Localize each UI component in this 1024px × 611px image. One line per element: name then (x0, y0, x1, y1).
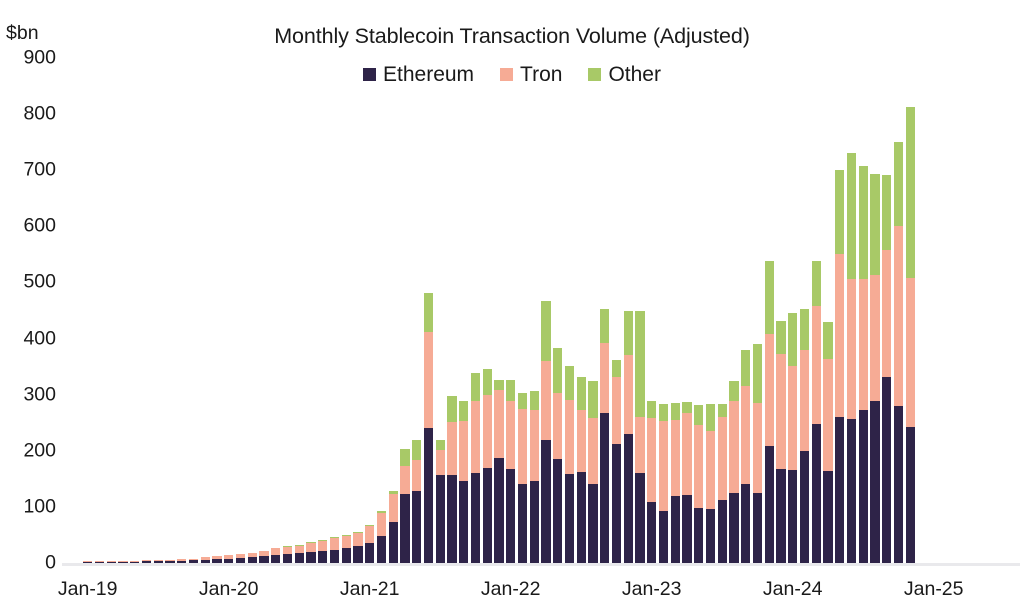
bar-stack[interactable] (870, 174, 879, 563)
bar-stack[interactable] (424, 293, 433, 563)
bar-stack[interactable] (389, 491, 398, 563)
bar-stack[interactable] (588, 381, 597, 563)
bar-stack[interactable] (530, 391, 539, 563)
bar-segment-tron (612, 377, 621, 444)
bar-segment-ethereum (553, 459, 562, 563)
bar-segment-ethereum (271, 555, 280, 563)
bar-segment-ethereum (306, 552, 315, 563)
bar-segment-other (471, 373, 480, 401)
bar-segment-other (518, 393, 527, 409)
bar-segment-tron (342, 536, 351, 548)
bar-segment-other (671, 403, 680, 420)
bar-segment-ethereum (248, 557, 257, 563)
bar-segment-ethereum (483, 468, 492, 563)
bar-segment-tron (518, 409, 527, 485)
bar-segment-other (459, 401, 468, 421)
bar-segment-ethereum (459, 481, 468, 563)
bar-segment-ethereum (682, 495, 691, 563)
bar-stack[interactable] (671, 403, 680, 563)
bar-segment-ethereum (107, 562, 116, 563)
bar-segment-ethereum (436, 475, 445, 563)
bar-segment-other (682, 402, 691, 413)
bar-segment-ethereum (776, 469, 785, 563)
bar-segment-tron (718, 417, 727, 500)
bar-segment-tron (894, 226, 903, 406)
bar-segment-other (447, 396, 456, 421)
bar-stack[interactable] (201, 557, 210, 563)
bar-segment-ethereum (741, 484, 750, 563)
bar-segment-other (659, 404, 668, 421)
bar-stack[interactable] (295, 545, 304, 563)
bar-segment-other (483, 369, 492, 394)
bar-stack[interactable] (612, 360, 621, 563)
bar-stack[interactable] (647, 401, 656, 563)
bar-segment-ethereum (377, 536, 386, 563)
x-axis-tick-label: Jan-25 (904, 578, 964, 601)
x-axis-tick-label: Jan-24 (763, 578, 823, 601)
bar-segment-ethereum (154, 561, 163, 563)
bar-segment-tron (471, 401, 480, 473)
bar-stack[interactable] (165, 560, 174, 563)
bar-stack[interactable] (412, 440, 421, 563)
bar-stack[interactable] (130, 561, 139, 563)
bar-segment-tron (835, 254, 844, 417)
bar-segment-tron (647, 418, 656, 502)
bar-segment-ethereum (870, 401, 879, 563)
bar-stack[interactable] (494, 380, 503, 563)
bar-segment-other (741, 350, 750, 386)
bar-segment-ethereum (729, 493, 738, 563)
bar-segment-tron (447, 422, 456, 475)
bar-stack[interactable] (342, 535, 351, 563)
bar-segment-other (729, 381, 738, 401)
bar-segment-tron (870, 275, 879, 401)
y-axis-tick-label: 0 (0, 552, 56, 575)
bar-segment-ethereum (506, 469, 515, 563)
bar-segment-ethereum (95, 562, 104, 563)
bar-segment-ethereum (530, 481, 539, 563)
y-axis-tick-label: 800 (0, 103, 56, 126)
bar-stack[interactable] (318, 540, 327, 563)
bar-stack[interactable] (835, 170, 844, 563)
bar-segment-ethereum (600, 413, 609, 563)
bar-segment-ethereum (859, 410, 868, 563)
bar-segment-tron (483, 395, 492, 468)
bar-stack[interactable] (447, 396, 456, 563)
bar-stack[interactable] (248, 553, 257, 563)
bar-segment-tron (588, 418, 597, 484)
bar-segment-ethereum (177, 561, 186, 563)
chart-container: $bn Monthly Stablecoin Transaction Volum… (0, 0, 1024, 611)
bar-segment-tron (671, 420, 680, 496)
bar-segment-other (718, 404, 727, 417)
bar-segment-other (894, 142, 903, 226)
bar-segment-other (400, 449, 409, 466)
bar-segment-ethereum (624, 434, 633, 563)
bar-segment-ethereum (518, 484, 527, 563)
bar-stack[interactable] (847, 153, 856, 563)
bar-segment-tron (624, 355, 633, 434)
bar-stack[interactable] (541, 301, 550, 563)
bar-segment-ethereum (718, 500, 727, 563)
bar-segment-ethereum (424, 428, 433, 563)
x-axis-tick-label: Jan-22 (481, 578, 541, 601)
bar-stack[interactable] (236, 554, 245, 563)
bar-stack[interactable] (83, 561, 92, 563)
bar-segment-other (588, 381, 597, 417)
bar-stack[interactable] (400, 449, 409, 563)
bar-segment-other (494, 380, 503, 390)
bar-segment-ethereum (353, 546, 362, 563)
y-axis-tick-label: 600 (0, 215, 56, 238)
bar-stack[interactable] (753, 344, 762, 563)
x-axis-tick-label: Jan-20 (199, 578, 259, 601)
bar-stack[interactable] (729, 381, 738, 563)
x-axis-tick-label: Jan-19 (58, 578, 118, 601)
bar-segment-other (577, 377, 586, 411)
x-axis: Jan-19Jan-20Jan-21Jan-22Jan-23Jan-24Jan-… (0, 578, 1024, 608)
bar-stack[interactable] (800, 309, 809, 563)
bar-segment-tron (330, 538, 339, 549)
bar-segment-ethereum (118, 562, 127, 563)
bar-stack[interactable] (118, 561, 127, 563)
bar-segment-other (859, 166, 868, 278)
bar-segment-ethereum (342, 548, 351, 563)
bar-segment-other (753, 344, 762, 403)
bar-segment-ethereum (295, 553, 304, 563)
bar-stack[interactable] (812, 261, 821, 563)
bar-stack[interactable] (212, 556, 221, 563)
bar-segment-tron (682, 413, 691, 494)
bar-segment-ethereum (236, 558, 245, 563)
bar-segment-tron (812, 306, 821, 424)
bar-segment-tron (859, 279, 868, 411)
bar-segment-tron (400, 466, 409, 494)
bar-segment-other (424, 293, 433, 332)
bar-segment-tron (530, 410, 539, 480)
bar-segment-tron (635, 417, 644, 473)
bar-stack[interactable] (471, 373, 480, 563)
bar-stack[interactable] (882, 175, 891, 563)
bar-segment-ethereum (906, 427, 915, 563)
bar-segment-ethereum (400, 494, 409, 563)
bar-stack[interactable] (330, 537, 339, 563)
bar-stack[interactable] (377, 511, 386, 563)
bar-stack[interactable] (189, 559, 198, 563)
bar-segment-tron (494, 390, 503, 457)
bar-stack[interactable] (306, 542, 315, 563)
bar-segment-tron (377, 513, 386, 537)
bar-stack[interactable] (694, 405, 703, 563)
bar-stack[interactable] (142, 560, 151, 563)
bar-stack[interactable] (271, 548, 280, 563)
bar-segment-tron (753, 403, 762, 494)
bar-segment-tron (365, 526, 374, 543)
bar-segment-tron (906, 278, 915, 427)
bar-stack[interactable] (788, 313, 797, 563)
bar-segment-tron (706, 431, 715, 508)
bar-segment-other (412, 440, 421, 460)
bar-segment-ethereum (812, 424, 821, 563)
bar-segment-other (541, 301, 550, 361)
bar-stack[interactable] (859, 166, 868, 563)
bar-stack[interactable] (177, 559, 186, 563)
bar-stack[interactable] (706, 404, 715, 563)
bar-segment-other (612, 360, 621, 377)
bar-segment-ethereum (647, 502, 656, 563)
bar-segment-ethereum (212, 559, 221, 563)
bar-stack[interactable] (682, 402, 691, 563)
bar-segment-tron (577, 410, 586, 472)
bar-segment-other (800, 309, 809, 350)
bar-segment-ethereum (765, 446, 774, 563)
bar-segment-ethereum (224, 559, 233, 563)
bar-segment-ethereum (283, 554, 292, 563)
bar-segment-other (870, 174, 879, 275)
bar-segment-tron (882, 250, 891, 376)
bar-stack[interactable] (776, 321, 785, 563)
y-axis-tick-label: 300 (0, 383, 56, 406)
bar-segment-tron (847, 279, 856, 419)
bar-segment-other (624, 311, 633, 356)
bar-stack[interactable] (577, 377, 586, 563)
bar-segment-other (565, 366, 574, 400)
bar-segment-ethereum (823, 471, 832, 563)
bar-stack[interactable] (506, 380, 515, 563)
y-axis-tick-label: 200 (0, 439, 56, 462)
bar-segment-ethereum (494, 458, 503, 563)
bar-segment-ethereum (588, 484, 597, 563)
bar-segment-other (530, 391, 539, 411)
bar-segment-ethereum (788, 470, 797, 563)
bar-segment-ethereum (541, 440, 550, 563)
bar-segment-tron (741, 386, 750, 484)
bar-stack[interactable] (565, 366, 574, 563)
bar-stack[interactable] (283, 546, 292, 563)
bar-stack[interactable] (483, 369, 492, 563)
bar-stack[interactable] (259, 551, 268, 563)
bar-segment-tron (565, 400, 574, 474)
bar-stack[interactable] (436, 440, 445, 563)
bar-segment-ethereum (800, 451, 809, 563)
x-axis-tick-label: Jan-21 (340, 578, 400, 601)
x-axis-baseline (62, 563, 1020, 566)
bar-segment-tron (800, 350, 809, 451)
y-axis-tick-label: 700 (0, 159, 56, 182)
bar-segment-tron (823, 359, 832, 471)
bar-segment-tron (436, 450, 445, 475)
bar-segment-tron (318, 541, 327, 551)
bar-segment-tron (459, 421, 468, 481)
bar-stack[interactable] (823, 322, 832, 563)
bar-segment-ethereum (201, 560, 210, 563)
bar-segment-ethereum (412, 491, 421, 563)
bar-segment-tron (600, 343, 609, 413)
bar-stack[interactable] (107, 561, 116, 563)
bar-stack[interactable] (95, 561, 104, 563)
bar-segment-other (600, 309, 609, 343)
bar-segment-ethereum (671, 496, 680, 563)
bar-segment-tron (424, 332, 433, 429)
y-axis-tick-label: 500 (0, 271, 56, 294)
bar-segment-ethereum (142, 561, 151, 563)
bar-segment-tron (506, 401, 515, 468)
bar-segment-other (553, 348, 562, 393)
bar-segment-ethereum (882, 377, 891, 563)
bar-segment-other (812, 261, 821, 306)
bar-segment-tron (271, 548, 280, 555)
bar-segment-ethereum (612, 444, 621, 563)
bar-stack[interactable] (365, 525, 374, 563)
bar-stack[interactable] (600, 309, 609, 563)
bar-segment-ethereum (447, 475, 456, 563)
y-axis-tick-label: 100 (0, 495, 56, 518)
bar-stack[interactable] (906, 107, 915, 563)
bar-segment-other (694, 405, 703, 425)
bar-segment-other (635, 311, 644, 418)
bar-segment-ethereum (753, 493, 762, 563)
bar-segment-ethereum (694, 508, 703, 563)
bar-segment-other (765, 261, 774, 334)
bar-segment-tron (729, 401, 738, 494)
bar-segment-ethereum (389, 522, 398, 563)
bar-stack[interactable] (765, 261, 774, 563)
bar-segment-ethereum (189, 560, 198, 563)
bar-segment-ethereum (259, 556, 268, 563)
bar-stack[interactable] (154, 560, 163, 563)
bar-segment-ethereum (330, 550, 339, 563)
bar-segment-other (882, 175, 891, 251)
bar-segment-ethereum (165, 561, 174, 563)
bar-segment-ethereum (635, 473, 644, 563)
y-axis: 0100200300400500600700800900 (0, 0, 56, 611)
y-axis-tick-label: 900 (0, 47, 56, 70)
bar-segment-other (706, 404, 715, 431)
bar-segment-other (776, 321, 785, 354)
bar-segment-other (788, 313, 797, 366)
bar-segment-tron (694, 425, 703, 508)
bar-stack[interactable] (659, 404, 668, 563)
bar-stack[interactable] (635, 311, 644, 563)
bar-segment-tron (283, 547, 292, 554)
bar-segment-ethereum (659, 511, 668, 563)
bar-segment-tron (659, 421, 668, 511)
bar-segment-other (847, 153, 856, 279)
bar-stack[interactable] (353, 532, 362, 563)
bar-segment-ethereum (83, 562, 92, 563)
bar-segment-ethereum (565, 474, 574, 563)
bar-stack[interactable] (553, 348, 562, 563)
bar-segment-tron (412, 460, 421, 491)
bar-segment-tron (389, 494, 398, 522)
bar-stack[interactable] (459, 401, 468, 563)
bar-segment-tron (553, 393, 562, 459)
bar-segment-other (647, 401, 656, 418)
bar-segment-tron (765, 334, 774, 446)
bar-stack[interactable] (224, 555, 233, 563)
chart-title: Monthly Stablecoin Transaction Volume (A… (0, 24, 1024, 49)
bar-stack[interactable] (624, 311, 633, 563)
bar-segment-ethereum (847, 419, 856, 563)
bar-segment-ethereum (318, 551, 327, 563)
bar-segment-other (506, 380, 515, 401)
bar-segment-other (906, 107, 915, 278)
bar-stack[interactable] (518, 393, 527, 563)
bar-segment-other (835, 170, 844, 254)
bar-segment-other (823, 322, 832, 359)
bar-segment-ethereum (471, 473, 480, 563)
bar-segment-ethereum (706, 509, 715, 563)
bar-stack[interactable] (718, 404, 727, 563)
bar-segment-tron (788, 366, 797, 470)
bar-segment-tron (353, 533, 362, 546)
y-axis-tick-label: 400 (0, 327, 56, 350)
bar-segment-ethereum (577, 472, 586, 563)
bar-stack[interactable] (741, 350, 750, 563)
x-axis-tick-label: Jan-23 (622, 578, 682, 601)
plot-area (62, 58, 1020, 566)
bar-segment-tron (541, 361, 550, 440)
bar-stack[interactable] (894, 142, 903, 563)
bar-segment-ethereum (130, 562, 139, 563)
bar-segment-ethereum (835, 417, 844, 563)
bar-segment-tron (295, 546, 304, 554)
bar-segment-ethereum (894, 406, 903, 563)
bar-segment-tron (776, 354, 785, 469)
bar-segment-ethereum (365, 543, 374, 563)
bar-segment-other (436, 440, 445, 450)
bar-segment-tron (306, 543, 315, 552)
